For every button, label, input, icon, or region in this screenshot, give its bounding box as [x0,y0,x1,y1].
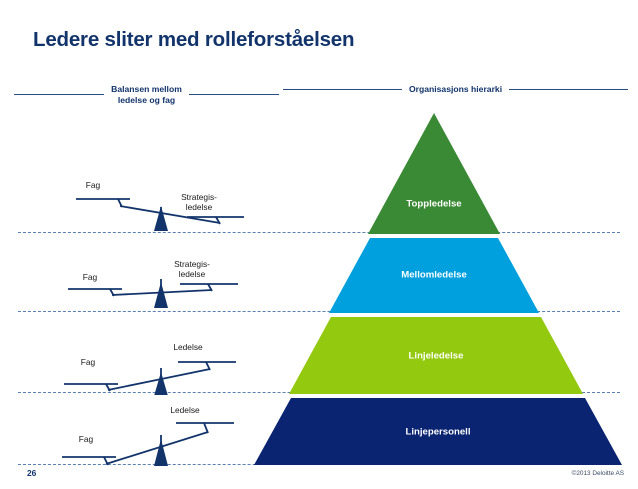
seesaw-4-label-right: Ledelse [170,405,199,415]
seesaw-2-label-fag: Fag [83,272,97,282]
pyramid-level-toppledelse [368,113,500,234]
seesaw-4-right-post [204,423,208,433]
seesaw-4-fulcrum [154,439,168,466]
section-header-balanse: Balansen mellom ledelse og fag [14,84,279,105]
seesaw-row-3 [60,340,250,395]
section-rule-right [189,94,279,95]
seesaw-1-fulcrum [154,206,168,231]
section-rule-left [283,89,402,90]
page-number: 26 [27,468,36,478]
seesaw-1-label-right-line1: Strategis- [181,192,217,202]
section-header-hierarki-label: Organisasjons hierarki [409,84,502,95]
seesaw-1-label-right: Strategis- ledelse [181,192,217,212]
pyramid-label-linjeledelse: Linjeledelse [409,351,464,362]
page-title: Ledere sliter med rolleforståelsen [33,28,354,52]
seesaw-3-label-fag: Fag [81,357,95,367]
seesaw-3-label-right: Ledelse [173,342,202,352]
section-header-balanse-label: Balansen mellom ledelse og fag [111,84,182,105]
seesaw-2-label-right-line1: Strategis- [174,259,210,269]
seesaw-2-fulcrum [154,282,168,308]
seesaw-1-label-right-line2: ledelse [181,202,217,212]
section-header-balanse-line2: ledelse og fag [111,95,182,106]
slide-canvas: Ledere sliter med rolleforståelsen Balan… [0,0,638,489]
section-rule-right [509,89,628,90]
pyramid-label-toppledelse: Toppledelse [406,199,461,210]
seesaw-2-label-right-line2: ledelse [174,269,210,279]
section-rule-left [14,94,104,95]
seesaw-1-label-fag: Fag [86,180,100,190]
seesaw-row-2 [60,262,250,314]
section-header-balanse-line1: Balansen mellom [111,84,182,95]
section-header-hierarki: Organisasjons hierarki [283,84,628,95]
pyramid-label-linjepersonell: Linjepersonell [405,427,470,438]
seesaw-2-label-right: Strategis- ledelse [174,259,210,279]
seesaw-4-label-fag: Fag [79,434,93,444]
seesaw-3-fulcrum [154,372,168,395]
copyright-notice: ©2013 Deloitte AS [572,470,624,477]
pyramid-label-mellomledelse: Mellomledelse [401,270,467,281]
